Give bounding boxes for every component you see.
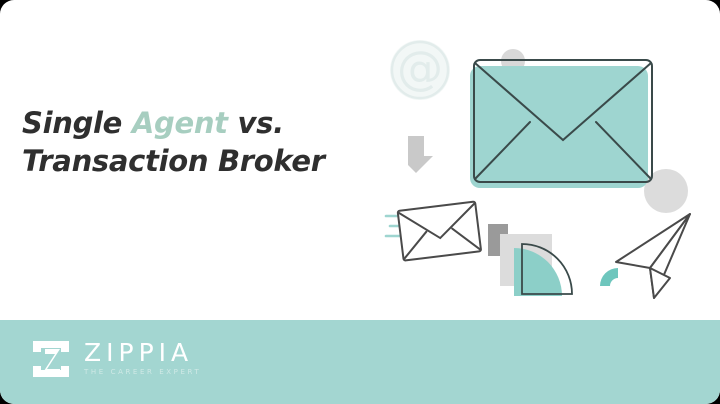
- slide-card: Single Agent vs. Transaction Broker @: [0, 0, 720, 404]
- zippia-tagline: THE CAREER EXPERT: [84, 367, 201, 378]
- headline-text-agent: Agent: [132, 106, 228, 140]
- headline-block: Single Agent vs. Transaction Broker: [22, 104, 372, 180]
- zippia-z-logo-icon: [30, 338, 72, 380]
- footer-bar: ZIPPIA THE CAREER EXPERT: [0, 320, 720, 404]
- paper-plane-icon: [616, 214, 690, 298]
- zippia-wordmark: ZIPPIA: [84, 340, 201, 366]
- headline-line-2: Transaction Broker: [22, 142, 372, 180]
- zippia-logo[interactable]: ZIPPIA THE CAREER EXPERT: [30, 338, 201, 380]
- small-teal-arc-icon: [600, 268, 618, 286]
- email-illustration: @: [378, 16, 704, 302]
- headline-line-1: Single Agent vs.: [22, 104, 372, 142]
- headline-text-single: Single: [22, 106, 132, 140]
- teal-crescent-icon: [650, 49, 677, 103]
- headline-text-vs: vs.: [228, 106, 284, 140]
- at-symbol-icon: @: [390, 40, 450, 100]
- zippia-logo-text: ZIPPIA THE CAREER EXPERT: [84, 340, 201, 378]
- gray-circle-icon: [644, 169, 688, 213]
- flying-envelope-icon: [398, 202, 482, 261]
- gray-arrow-icon: [408, 136, 433, 173]
- main-envelope-icon: [470, 60, 652, 188]
- svg-text:@: @: [397, 41, 443, 95]
